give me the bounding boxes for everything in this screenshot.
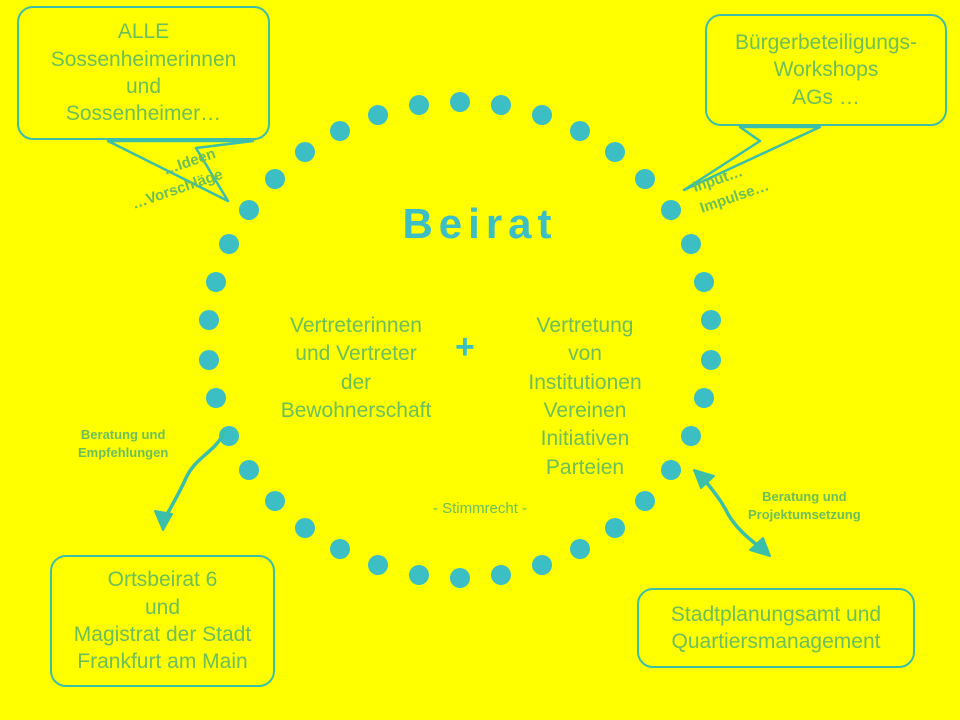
center-left-line: Bewohnerschaft bbox=[258, 397, 454, 425]
center-left-column: Vertreterinnen und Vertreter der Bewohne… bbox=[258, 312, 454, 425]
box-line: und bbox=[145, 594, 180, 621]
circle-dot bbox=[330, 539, 350, 559]
center-right-line: Vereinen bbox=[490, 397, 680, 425]
circle-dot bbox=[295, 142, 315, 162]
circle-dot bbox=[635, 169, 655, 189]
circle-dot bbox=[409, 95, 429, 115]
bubble-alle-sossenheimer[interactable]: ALLE Sossenheimerinnen und Sossenheimer… bbox=[17, 6, 270, 140]
center-left-line: und Vertreter bbox=[258, 340, 454, 368]
box-line: Stadtplanungsamt und bbox=[671, 601, 881, 628]
circle-dot bbox=[694, 388, 714, 408]
box-line: Magistrat der Stadt bbox=[74, 621, 251, 648]
circle-dot bbox=[701, 350, 721, 370]
circle-dot bbox=[368, 555, 388, 575]
circle-dot bbox=[409, 565, 429, 585]
label-line: Beratung und bbox=[748, 488, 861, 506]
center-left-line: der bbox=[258, 369, 454, 397]
circle-dot bbox=[605, 518, 625, 538]
center-right-line: von bbox=[490, 340, 680, 368]
circle-dot bbox=[295, 518, 315, 538]
plus-icon: + bbox=[455, 330, 475, 364]
bubble-line: Bürgerbeteiligungs- bbox=[735, 29, 917, 56]
box-line: Frankfurt am Main bbox=[77, 648, 247, 675]
bubble-line: und bbox=[126, 73, 161, 100]
arrowhead-up-projektumsetzung bbox=[694, 470, 714, 488]
circle-dot bbox=[694, 272, 714, 292]
circle-dot bbox=[199, 350, 219, 370]
circle-dot bbox=[450, 568, 470, 588]
circle-dot bbox=[206, 272, 226, 292]
circle-dot bbox=[570, 121, 590, 141]
bubble-line: ALLE bbox=[118, 18, 169, 45]
box-line: Quartiersmanagement bbox=[672, 628, 881, 655]
bubble-line: Sossenheimer… bbox=[66, 100, 221, 127]
center-right-line: Institutionen bbox=[490, 369, 680, 397]
circle-dot bbox=[532, 105, 552, 125]
box-stadtplanungsamt-quartiersmanagement[interactable]: Stadtplanungsamt und Quartiersmanagement bbox=[637, 588, 915, 668]
center-right-column: Vertretung von Institutionen Vereinen In… bbox=[490, 312, 680, 482]
bubble-line: Sossenheimerinnen bbox=[51, 46, 237, 73]
circle-dot bbox=[532, 555, 552, 575]
label-line: Projektumsetzung bbox=[748, 506, 861, 524]
page-title: Beirat bbox=[0, 200, 960, 248]
circle-dot bbox=[330, 121, 350, 141]
circle-dot bbox=[265, 169, 285, 189]
center-right-line: Initiativen bbox=[490, 425, 680, 453]
circle-dot bbox=[701, 310, 721, 330]
circle-dot bbox=[491, 565, 511, 585]
box-line: Ortsbeirat 6 bbox=[108, 566, 218, 593]
center-right-line: Vertretung bbox=[490, 312, 680, 340]
arrowhead-down-projektumsetzung bbox=[750, 538, 770, 556]
circle-dot bbox=[570, 539, 590, 559]
label-line: Empfehlungen bbox=[78, 444, 168, 462]
circle-dot bbox=[368, 105, 388, 125]
box-ortsbeirat-magistrat[interactable]: Ortsbeirat 6 und Magistrat der Stadt Fra… bbox=[50, 555, 275, 687]
bubble-buergerbeteiligungs-workshops[interactable]: Bürgerbeteiligungs- Workshops AGs … bbox=[705, 14, 947, 126]
bubble-line: AGs … bbox=[792, 84, 860, 111]
center-right-line: Parteien bbox=[490, 454, 680, 482]
circle-dot bbox=[605, 142, 625, 162]
circle-dot bbox=[491, 95, 511, 115]
label-line: Beratung und bbox=[78, 426, 168, 444]
center-left-line: Vertreterinnen bbox=[258, 312, 454, 340]
bubble-line: Workshops bbox=[774, 56, 879, 83]
circle-dot bbox=[219, 426, 239, 446]
diagram-canvas: ALLE Sossenheimerinnen und Sossenheimer…… bbox=[0, 0, 960, 720]
circle-dot bbox=[450, 92, 470, 112]
circle-dot bbox=[681, 426, 701, 446]
label-beratung-empfehlungen: Beratung und Empfehlungen bbox=[78, 426, 168, 462]
label-beratung-projektumsetzung: Beratung und Projektumsetzung bbox=[748, 488, 861, 524]
circle-dot bbox=[239, 460, 259, 480]
circle-dot bbox=[199, 310, 219, 330]
circle-dot bbox=[206, 388, 226, 408]
